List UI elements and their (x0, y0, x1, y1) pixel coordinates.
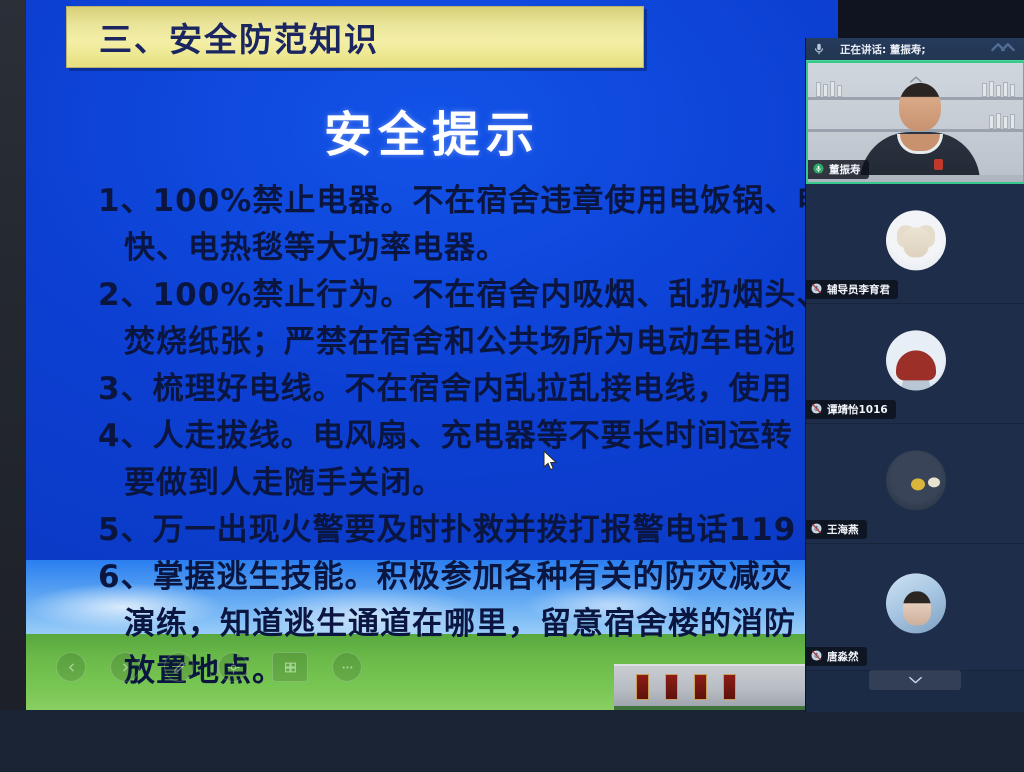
video-conference-panel[interactable]: 正在讲话: 董振寿; (805, 38, 1024, 712)
video-tile-active-speaker[interactable]: 董振寿 (806, 61, 1024, 184)
speaker-head (899, 83, 941, 131)
video-tile-participant[interactable]: 王海燕 (806, 424, 1024, 544)
participant-tiles: 辅导员李育君谭靖怡1016王海燕唐淼然 (806, 184, 1024, 671)
participant-name: 董振寿 (829, 162, 861, 177)
participant-name: 唐淼然 (827, 649, 859, 664)
chevron-right-icon (119, 661, 132, 674)
slide-body-line: 5、万一出现火警要及时扑救并拨打报警电话119 (98, 507, 838, 554)
chevron-down-icon (908, 671, 923, 689)
pen-icon (173, 661, 186, 674)
book (823, 84, 828, 97)
slide-title: 安全提示 (26, 95, 838, 165)
slide-body-line: 快、电热毯等大功率电器。 (98, 225, 838, 272)
dog-avatar (886, 210, 946, 270)
ellipsis-icon (340, 661, 355, 674)
pen-tool-button[interactable] (164, 652, 194, 682)
book (989, 81, 994, 97)
participant-name: 辅导员李育君 (827, 282, 890, 297)
screen-capture: 三、安全防范知识 安全提示 1、100%禁止电器。不在宿舍违章使用电饭锅、电快、… (0, 0, 1024, 772)
scroll-down-button[interactable] (869, 670, 961, 690)
next-slide-button[interactable] (110, 652, 140, 682)
slide-body-line: 2、100%禁止行为。不在宿舍内吸烟、乱扔烟头、 (98, 272, 838, 319)
participant-nametag: 唐淼然 (806, 647, 867, 666)
more-options-button[interactable] (332, 652, 362, 682)
previous-slide-button[interactable] (56, 652, 86, 682)
slide-body-line: 焚烧纸张；严禁在宿舍和公共场所为电动车电池 (98, 319, 838, 366)
participant-name: 谭靖怡1016 (827, 402, 888, 417)
polo-collar (897, 134, 943, 154)
book (1003, 82, 1008, 97)
chevron-left-icon (65, 661, 78, 674)
slide-body-line: 1、100%禁止电器。不在宿舍违章使用电饭锅、电 (98, 178, 838, 225)
books-left (816, 81, 842, 97)
microphone-muted-icon (811, 281, 822, 299)
participant-nametag: 董振寿 (808, 160, 869, 179)
microphone-muted-icon (811, 648, 822, 666)
video-tile-participant[interactable]: 唐淼然 (806, 544, 1024, 671)
slide-body-line: 4、人走拔线。电风扇、充电器等不要长时间运转 (98, 413, 838, 460)
book (982, 83, 987, 97)
microphone-on-icon (813, 161, 824, 179)
book (816, 82, 821, 97)
slide-body-line: 3、梳理好电线。不在宿舍内乱拉乱接电线，使用 (98, 366, 838, 413)
slide-header-banner: 三、安全防范知识 (66, 6, 644, 68)
slide-header-text: 三、安全防范知识 (99, 13, 379, 61)
video-tile-participant[interactable]: 谭靖怡1016 (806, 304, 1024, 424)
video-tile-participant[interactable]: 辅导员李育君 (806, 184, 1024, 304)
projector-bezel-bottom (0, 710, 1024, 772)
shirt-emblem (934, 159, 943, 170)
presentation-slide[interactable]: 三、安全防范知识 安全提示 1、100%禁止电器。不在宿舍违章使用电饭锅、电快、… (26, 0, 838, 710)
participant-nametag: 辅导员李育君 (806, 280, 898, 299)
grid-icon (283, 661, 298, 674)
books-right (982, 81, 1015, 97)
person-photo-avatar (886, 573, 946, 633)
anime-avatar (886, 330, 946, 390)
book (1010, 114, 1015, 129)
book (1010, 84, 1015, 97)
microphone-muted-icon (811, 401, 822, 419)
book (996, 113, 1001, 129)
dark-photo-avatar (886, 450, 946, 510)
book (837, 85, 842, 97)
books-right-2 (989, 113, 1015, 129)
book (989, 115, 994, 129)
presenter-toolbar[interactable] (56, 652, 362, 682)
participant-nametag: 王海燕 (806, 520, 867, 539)
slide-body-line: 6、掌握逃生技能。积极参加各种有关的防灾减灾 (98, 554, 838, 601)
microphone-muted-icon (811, 521, 822, 539)
slide-body-line: 要做到人走随手关闭。 (98, 460, 838, 507)
book (996, 85, 1001, 97)
laser-pointer-button[interactable] (218, 652, 248, 682)
double-chevron-icon[interactable] (990, 41, 1016, 59)
speaking-status-bar: 正在讲话: 董振寿; (806, 38, 1024, 61)
book (830, 81, 835, 97)
microphone-icon (812, 42, 826, 56)
participant-nametag: 谭靖怡1016 (806, 400, 896, 419)
speaking-label: 正在讲话: 董振寿; (840, 42, 926, 57)
projector-bezel-left (0, 0, 26, 710)
laser-pointer-icon (227, 661, 240, 674)
slide-overview-button[interactable] (272, 652, 308, 682)
slide-body-line: 演练，知道逃生通道在哪里，留意宿舍楼的消防 (98, 601, 838, 648)
participant-name: 王海燕 (827, 522, 859, 537)
book (1003, 116, 1008, 129)
slide-body: 1、100%禁止电器。不在宿舍违章使用电饭锅、电快、电热毯等大功率电器。2、10… (98, 178, 838, 695)
